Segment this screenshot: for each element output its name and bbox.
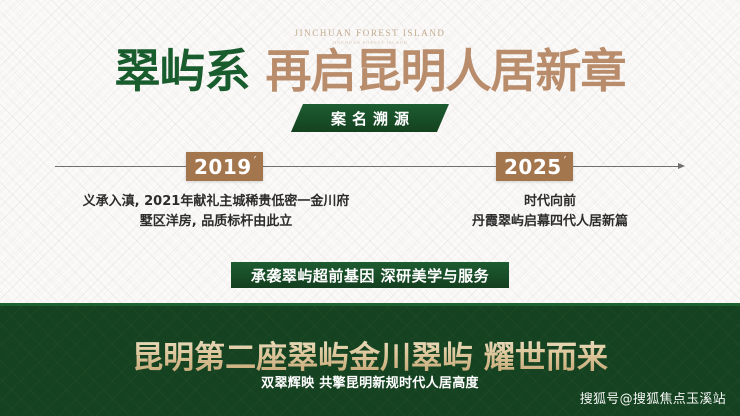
timeline-copy-2025: 时代向前 丹霞翠屿启幕四代人居新篇 [400, 192, 700, 232]
timeline-arrow-icon [678, 163, 685, 169]
mid-statement-text: 承袭翠屿超前基因 深研美学与服务 [251, 265, 489, 286]
brand-english-title: JINCHUAN FOREST ISLAND [0, 28, 740, 38]
timeline-copy-2025-line2: 丹霞翠屿启幕四代人居新篇 [400, 212, 700, 232]
timeline-copy-2019-line2: 墅区洋房, 品质标杆由此立 [48, 212, 384, 232]
brand-eyebrow: JINCHUAN FOREST ISLAND JINCHUAN FOREST I… [0, 28, 740, 45]
timeline-copy-2019: 义承入滇, 2021年献礼主城稀贵低密一金川府 墅区洋房, 品质标杆由此立 [48, 192, 384, 232]
timeline-year-badge-2025: 2025 ′ [496, 152, 573, 181]
ribbon-label: 案名溯源 [325, 108, 415, 129]
watermark-credit: 搜狐号@搜狐焦点玉溪站 [580, 388, 726, 407]
page-title: 翠屿系再启昆明人居新章 [0, 48, 740, 94]
headline-series-text: 翠屿系 [115, 44, 250, 98]
mid-statement-bar: 承袭翠屿超前基因 深研美学与服务 [0, 262, 740, 288]
bottom-panel: 昆明第二座翠屿金川翠屿 耀世而来 双翠辉映 共擎昆明新规时代人居高度 搜狐号@搜… [0, 303, 740, 416]
bottom-panel-top-edge [0, 303, 740, 306]
timeline-year-badge-2019: 2019 ′ [186, 152, 263, 181]
poster-canvas: JINCHUAN FOREST ISLAND JINCHUAN FOREST I… [0, 0, 740, 416]
year-label-2025: 2025 [504, 157, 562, 177]
ribbon-shape: 案名溯源 [291, 104, 449, 132]
bottom-headline: 昆明第二座翠屿金川翠屿 耀世而来 [0, 332, 740, 377]
year-tick-mark-2019: ′ [254, 155, 257, 170]
timeline-copy-2025-line1: 时代向前 [400, 192, 700, 212]
section-ribbon: 案名溯源 [0, 104, 740, 132]
year-tick-mark-2025: ′ [564, 155, 567, 170]
timeline-axis-line [55, 166, 681, 167]
timeline: 2019 ′ 2025 ′ [0, 152, 740, 182]
year-label-2019: 2019 [194, 157, 252, 177]
timeline-copy-2019-line1: 义承入滇, 2021年献礼主城稀贵低密一金川府 [48, 192, 384, 212]
headline-main-text: 再启昆明人居新章 [266, 44, 626, 98]
mid-statement-shape: 承袭翠屿超前基因 深研美学与服务 [231, 262, 509, 288]
